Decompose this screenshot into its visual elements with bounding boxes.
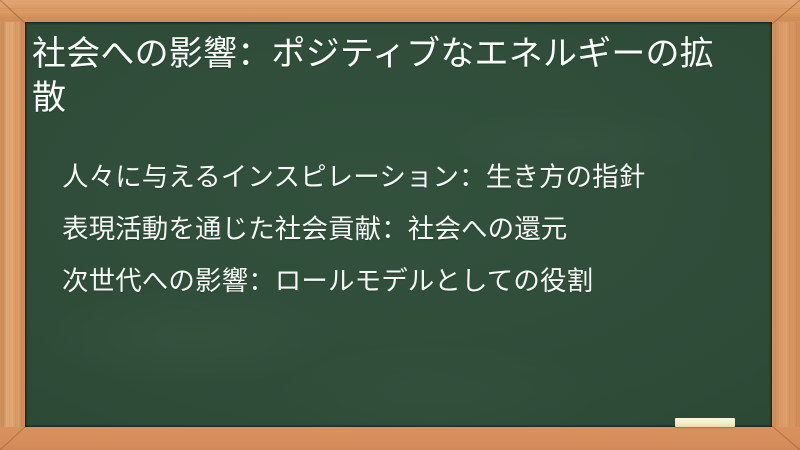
bullet-item-2: 表現活動を通じた社会貢献：社会への還元 xyxy=(25,204,772,256)
slide-bullet-list: 人々に与えるインスピレーション：生き方の指針 表現活動を通じた社会貢献：社会への… xyxy=(25,152,772,308)
slide-content: 社会への影響：ポジティブなエネルギーの拡散 人々に与えるインスピレーション：生き… xyxy=(25,22,772,427)
bullet-item-3: 次世代への影響：ロールモデルとしての役割 xyxy=(25,256,772,308)
chalkboard-surface: 社会への影響：ポジティブなエネルギーの拡散 人々に与えるインスピレーション：生き… xyxy=(25,22,772,427)
chalk-stick-icon xyxy=(675,418,735,427)
bullet-item-1: 人々に与えるインスピレーション：生き方の指針 xyxy=(25,152,772,204)
frame-rail-bottom xyxy=(0,427,800,450)
chalkboard-slide: 社会への影響：ポジティブなエネルギーの拡散 人々に与えるインスピレーション：生き… xyxy=(0,0,800,450)
frame-rail-top xyxy=(0,0,800,22)
frame-rail-right xyxy=(772,0,800,450)
slide-title: 社会への影響：ポジティブなエネルギーの拡散 xyxy=(25,33,772,121)
frame-rail-left xyxy=(0,0,25,450)
